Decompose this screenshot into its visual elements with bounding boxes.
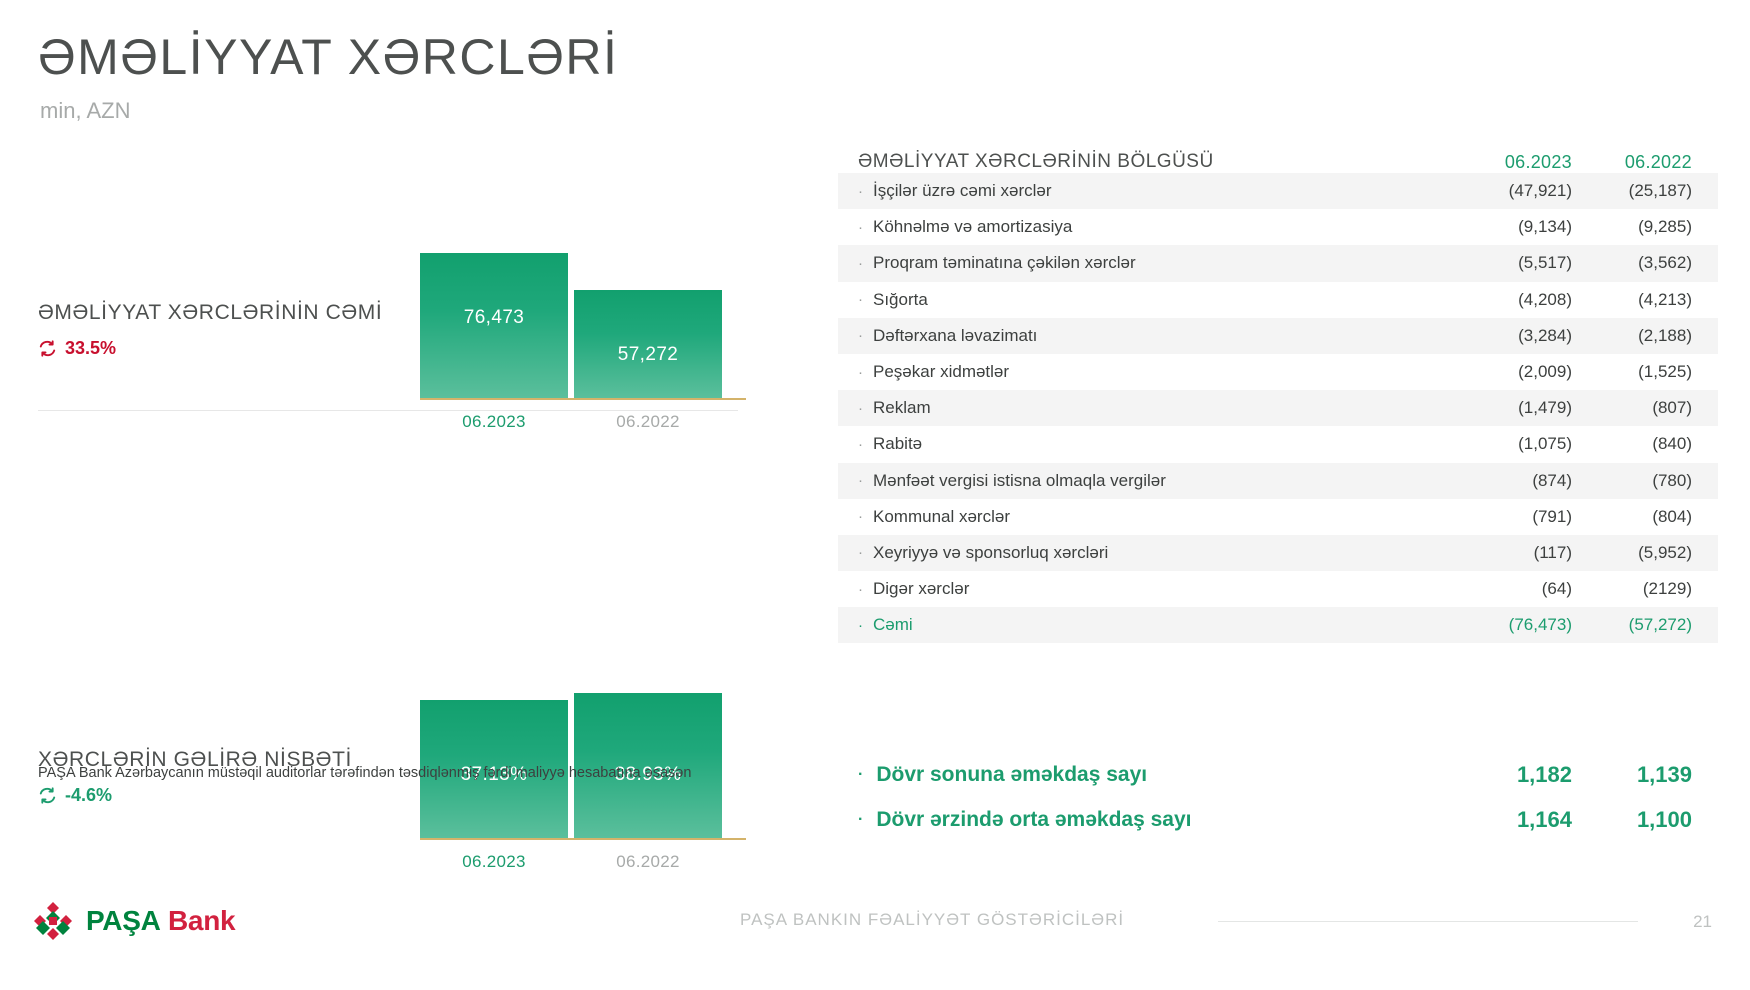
table-title: ƏMƏLİYYAT XƏRCLƏRİNİN BÖLGÜSÜ [858, 151, 1452, 173]
section-divider [38, 410, 738, 411]
row-value-2022: (2,188) [1572, 326, 1692, 346]
row-value-2022: (2129) [1572, 579, 1692, 599]
axis-label-2023: 06.2023 [420, 412, 568, 432]
table-row: ·Kommunal xərclər (791) (804) [838, 499, 1718, 535]
bullet-icon: · [858, 328, 863, 343]
row-value-2022: (807) [1572, 398, 1692, 418]
bar-value-2023: 76,473 [464, 307, 525, 329]
row-value-2022: (57,272) [1572, 615, 1692, 635]
row-label: Köhnəlmə və amortizasiya [873, 217, 1072, 237]
row-label: Dəftərxana ləvazimatı [873, 326, 1037, 346]
bullet-icon: · [858, 766, 863, 784]
row-label: Xeyriyyə və sponsorluq xərcləri [873, 543, 1108, 563]
kpi-total-opex: ƏMƏLİYYAT XƏRCLƏRİNİN CƏMİ 33.5% 76,473 [0, 205, 820, 455]
footer-divider [1218, 921, 1638, 922]
row-value-2023: (791) [1452, 507, 1572, 527]
row-value-2023: (64) [1452, 579, 1572, 599]
bullet-icon: · [858, 509, 863, 524]
kpi-delta-value: 33.5% [65, 338, 116, 359]
table-row: ·Mənfəət vergisi istisna olmaqla vergilə… [838, 463, 1718, 499]
table-row: ·Proqram təminatına çəkilən xərclər (5,5… [838, 245, 1718, 281]
row-label: Proqram təminatına çəkilən xərclər [873, 253, 1136, 273]
employee-stats: ·Dövr sonuna əməkdaş sayı 1,182 1,139 ·D… [838, 752, 1718, 842]
bullet-icon: · [858, 582, 863, 597]
table-col-header-2023: 06.2023 [1452, 152, 1572, 173]
row-label: Reklam [873, 398, 931, 418]
employee-value-2022: 1,139 [1572, 762, 1692, 788]
bullet-icon: · [858, 545, 863, 560]
row-value-2022: (4,213) [1572, 290, 1692, 310]
footnote: PAŞA Bank Azərbaycanın müstəqil auditorl… [38, 765, 691, 781]
bar-value-2022: 57,272 [618, 344, 679, 366]
employee-value-2023: 1,182 [1452, 762, 1572, 788]
bullet-icon: · [858, 220, 863, 235]
bar-chart-total-opex: 76,473 57,272 06.2023 06.2022 [420, 255, 750, 450]
table-header-row: ƏMƏLİYYAT XƏRCLƏRİNİN BÖLGÜSÜ 06.2023 06… [838, 125, 1718, 173]
axis-label-2022: 06.2022 [574, 852, 722, 872]
employee-row: ·Dövr ərzində orta əməkdaş sayı 1,164 1,… [838, 797, 1718, 842]
bullet-icon: · [858, 473, 863, 488]
bullet-icon: · [858, 437, 863, 452]
page-number: 21 [1693, 912, 1712, 932]
row-value-2022: (780) [1572, 471, 1692, 491]
employee-label: Dövr sonuna əməkdaş sayı [876, 763, 1147, 787]
table-row: ·İşçilər üzrə cəmi xərclər (47,921) (25,… [838, 173, 1718, 209]
bar-axis-labels: 06.2023 06.2022 [420, 852, 750, 872]
row-label: İşçilər üzrə cəmi xərclər [873, 181, 1052, 201]
table-row: ·Köhnəlmə və amortizasiya (9,134) (9,285… [838, 209, 1718, 245]
page-subtitle: min, AZN [40, 98, 130, 124]
bullet-icon: · [858, 184, 863, 199]
row-value-2022: (3,562) [1572, 253, 1692, 273]
axis-label-2022: 06.2022 [574, 412, 722, 432]
employee-row: ·Dövr sonuna əməkdaş sayı 1,182 1,139 [838, 752, 1718, 797]
refresh-arrows-icon [38, 339, 57, 358]
bullet-icon: · [858, 365, 863, 380]
row-value-2022: (5,952) [1572, 543, 1692, 563]
row-value-2023: (3,284) [1452, 326, 1572, 346]
row-value-2022: (840) [1572, 434, 1692, 454]
row-value-2023: (2,009) [1452, 362, 1572, 382]
bar-2023: 76,473 [420, 253, 568, 398]
refresh-arrows-icon [38, 786, 57, 805]
chart-baseline [420, 398, 746, 400]
kpi-delta: 33.5% [38, 338, 116, 359]
table-row: ·Reklam (1,479) (807) [838, 390, 1718, 426]
row-value-2023: (117) [1452, 543, 1572, 563]
employee-value-2022: 1,100 [1572, 807, 1692, 833]
table-row: ·Dəftərxana ləvazimatı (3,284) (2,188) [838, 318, 1718, 354]
row-label: Sığorta [873, 290, 928, 310]
row-value-2022: (804) [1572, 507, 1692, 527]
employee-value-2023: 1,164 [1452, 807, 1572, 833]
row-label: Peşəkar xidmətlər [873, 362, 1009, 382]
row-value-2022: (25,187) [1572, 181, 1692, 201]
logo-text-pasa: PAŞA [86, 905, 161, 936]
row-value-2023: (76,473) [1452, 615, 1572, 635]
table-row: ·Digər xərclər (64) (2129) [838, 571, 1718, 607]
opex-breakdown-table: ƏMƏLİYYAT XƏRCLƏRİNİN BÖLGÜSÜ 06.2023 06… [838, 125, 1718, 643]
row-value-2023: (9,134) [1452, 217, 1572, 237]
employee-label: Dövr ərzində orta əməkdaş sayı [876, 808, 1191, 832]
bullet-icon: · [858, 811, 863, 829]
row-value-2023: (5,517) [1452, 253, 1572, 273]
pasa-flower-logo-icon [32, 900, 74, 942]
bullet-icon: · [858, 401, 863, 416]
logo-wordmark: PAŞA Bank [86, 905, 235, 937]
row-label: Kommunal xərclər [873, 507, 1010, 527]
bar-axis-labels: 06.2023 06.2022 [420, 412, 750, 432]
row-value-2023: (1,479) [1452, 398, 1572, 418]
row-label: Digər xərclər [873, 579, 969, 599]
kpi-delta-value: -4.6% [65, 785, 112, 806]
row-label: Cəmi [873, 615, 913, 635]
table-row: ·Peşəkar xidmətlər (2,009) (1,525) [838, 354, 1718, 390]
row-value-2022: (9,285) [1572, 217, 1692, 237]
table-row: ·Sığorta (4,208) (4,213) [838, 282, 1718, 318]
table-row: ·Rabitə (1,075) (840) [838, 426, 1718, 462]
page-title: ƏMƏLİYYAT XƏRCLƏRİ [38, 28, 618, 86]
table-col-header-2022: 06.2022 [1572, 152, 1692, 173]
logo-text-bank: Bank [168, 905, 235, 936]
bar-group: 76,473 57,272 [420, 253, 750, 398]
pasa-bank-logo: PAŞA Bank [32, 900, 235, 942]
kpi-delta: -4.6% [38, 785, 112, 806]
row-value-2023: (874) [1452, 471, 1572, 491]
bar-2022: 57,272 [574, 290, 722, 398]
row-value-2023: (47,921) [1452, 181, 1572, 201]
row-value-2023: (4,208) [1452, 290, 1572, 310]
table-row-total: ·Cəmi (76,473) (57,272) [838, 607, 1718, 643]
table-row: ·Xeyriyyə və sponsorluq xərcləri (117) (… [838, 535, 1718, 571]
chart-baseline [420, 838, 746, 840]
kpi-cost-to-income: XƏRCLƏRİN GƏLİRƏ NİSBƏTİ -4.6% 37.13% [0, 495, 820, 745]
axis-label-2023: 06.2023 [420, 852, 568, 872]
bullet-icon: · [858, 256, 863, 271]
charts-column: ƏMƏLİYYAT XƏRCLƏRİNİN CƏMİ 33.5% 76,473 [0, 140, 820, 760]
bullet-icon: · [858, 618, 863, 633]
bar-chart-cost-to-income: 37.13% 38.93% 06.2023 06.2022 [420, 695, 750, 890]
footer-caption: PAŞA BANKIN FƏALİYYƏT GÖSTƏRİCİLƏRİ [740, 910, 1124, 930]
slide-root: ƏMƏLİYYAT XƏRCLƏRİ min, AZN ƏMƏLİYYAT XƏ… [0, 0, 1750, 990]
bullet-icon: · [858, 292, 863, 307]
row-value-2022: (1,525) [1572, 362, 1692, 382]
row-label: Mənfəət vergisi istisna olmaqla vergilər [873, 471, 1166, 491]
row-label: Rabitə [873, 434, 922, 454]
row-value-2023: (1,075) [1452, 434, 1572, 454]
kpi-label: ƏMƏLİYYAT XƏRCLƏRİNİN CƏMİ [38, 301, 382, 325]
